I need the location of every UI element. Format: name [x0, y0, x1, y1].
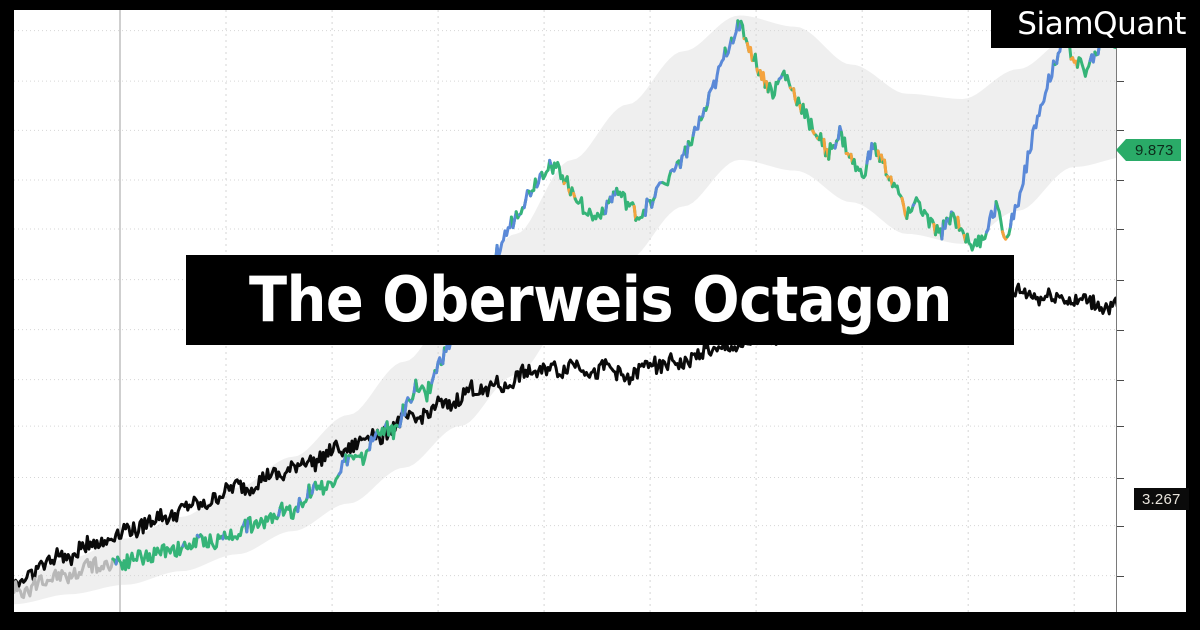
axis-tick: [1117, 81, 1124, 82]
axis-tick: [1117, 576, 1124, 577]
brand-name: SiamQuant: [1017, 6, 1186, 42]
axis-tick: [1117, 426, 1124, 427]
axis-rule: [1116, 10, 1117, 612]
price-axis[interactable]: [1116, 10, 1186, 612]
benchmark-price-value: 3.267: [1142, 491, 1181, 508]
axis-tick: [1117, 478, 1124, 479]
axis-tick: [1117, 526, 1124, 527]
page-title: The Oberweis Octagon: [249, 269, 952, 331]
benchmark-price-tag: 3.267: [1134, 488, 1189, 510]
brand-watermark: SiamQuant: [991, 0, 1200, 48]
axis-tick: [1117, 330, 1124, 331]
axis-tick: [1117, 229, 1124, 230]
axis-tick: [1117, 380, 1124, 381]
title-banner: The Oberweis Octagon: [186, 255, 1014, 345]
strategy-price-tag: 9.873: [1126, 139, 1181, 161]
strategy-price-value: 9.873: [1135, 142, 1174, 159]
axis-tick: [1117, 180, 1124, 181]
axis-tick: [1117, 130, 1124, 131]
chart-screenshot: 9.873 3.267 The Oberweis Octagon SiamQua…: [0, 0, 1200, 630]
axis-tick: [1117, 280, 1124, 281]
